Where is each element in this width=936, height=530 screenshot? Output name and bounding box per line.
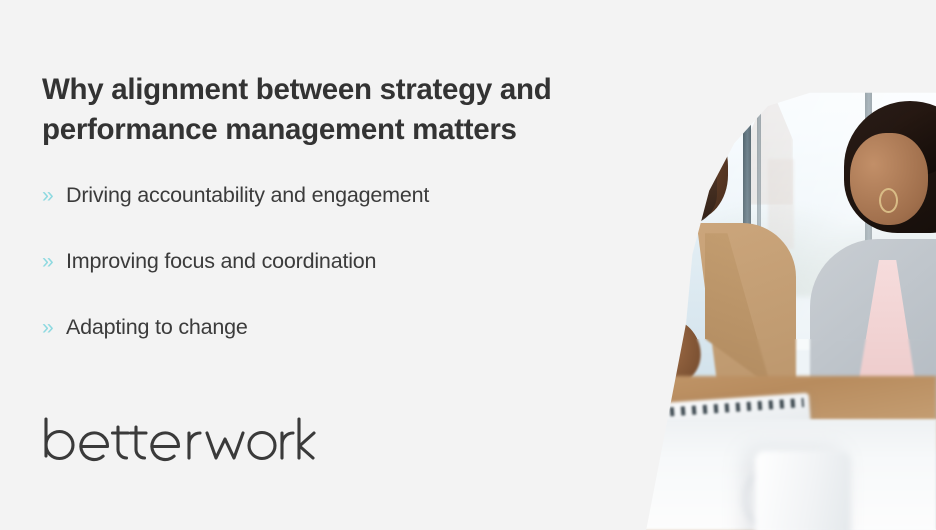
list-item-label: Driving accountability and engagement [66,185,429,207]
man-face [642,117,728,221]
betterworks-logo [42,415,316,467]
page-title-line-1: Why alignment between strategy and [42,70,622,110]
list-item: » Improving focus and coordination [42,251,602,317]
white-mug [755,451,851,530]
chevron-double-right-icon: » [42,317,66,338]
list-item: » Driving accountability and engagement [42,185,602,251]
chevron-double-right-icon: » [42,185,66,206]
man-smile [674,188,700,199]
content-column: Why alignment between strategy and perfo… [42,0,642,530]
page-title-line-2: performance management matters [42,110,622,150]
chevron-double-right-icon: » [42,251,66,272]
bullet-list: » Driving accountability and engagement … [42,185,602,383]
list-item-label: Improving focus and coordination [66,251,376,273]
betterworks-wordmark-icon [42,415,316,467]
list-item-label: Adapting to change [66,317,248,339]
man-hair [642,109,728,159]
page-title: Why alignment between strategy and perfo… [42,70,622,150]
list-item: » Adapting to change [42,317,602,383]
slide: Why alignment between strategy and perfo… [0,0,936,530]
